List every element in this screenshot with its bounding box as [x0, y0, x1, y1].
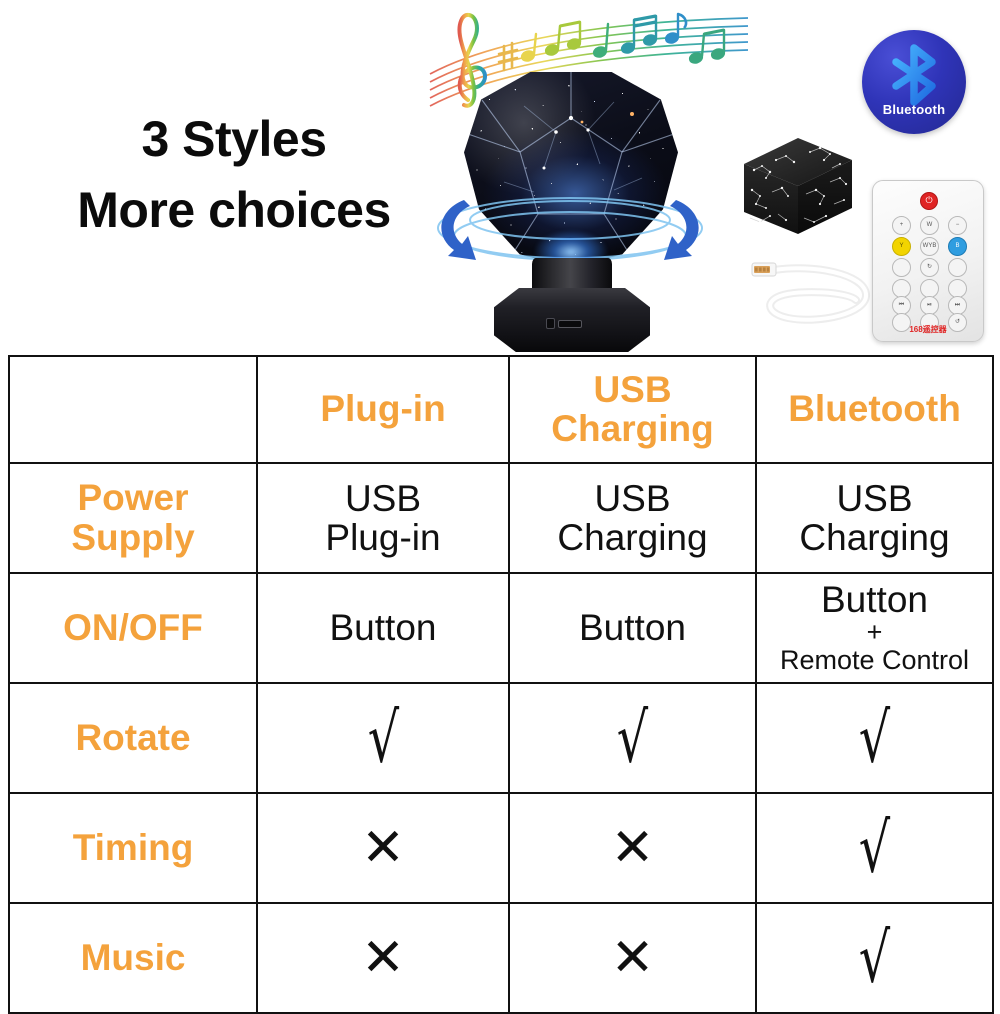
cell-rotate-plug-in: √ — [257, 683, 509, 793]
table-corner-cell — [9, 356, 257, 463]
remote-button-dim[interactable] — [892, 258, 911, 277]
headline-line-1: 3 Styles — [34, 104, 434, 175]
cell-text-line1: USB — [594, 478, 670, 519]
cell-text-plus: + — [761, 619, 988, 646]
column-header-plug-in: Plug-in — [257, 356, 509, 463]
table-row: Music ✕ ✕ √ — [9, 903, 993, 1013]
constellation-gift-box — [736, 130, 858, 242]
power-button-icon — [546, 318, 555, 329]
cell-onoff-usb-charging: Button — [509, 573, 756, 683]
cell-power-bluetooth: USB Charging — [756, 463, 993, 573]
page-title: 3 Styles More choices — [34, 104, 434, 246]
table-row: Timing ✕ ✕ √ — [9, 793, 993, 903]
cell-rotate-usb-charging: √ — [509, 683, 756, 793]
cell-rotate-bluetooth: √ — [756, 683, 993, 793]
cross-icon: ✕ — [611, 932, 655, 984]
cross-icon: ✕ — [361, 822, 405, 874]
ir-remote-control: ⏻ + W − Y WYB B ↻ ⏮ ⏯ ⏭ ↺ 168遥控器 — [872, 180, 984, 342]
remote-button-lamp[interactable] — [948, 258, 967, 277]
table-row: ON/OFF Button Button Button + Remote Con… — [9, 573, 993, 683]
check-icon: √ — [617, 704, 648, 772]
comparison-table: Plug-in USB Charging Bluetooth Power Sup… — [8, 355, 994, 1014]
cell-text-line1: Button — [821, 579, 928, 620]
usb-port-icon — [558, 320, 582, 328]
cross-icon: ✕ — [361, 932, 405, 984]
cross-icon: ✕ — [611, 822, 655, 874]
usb-charging-cable — [744, 248, 884, 332]
remote-button-rotate[interactable]: ↻ — [920, 258, 939, 277]
cell-text-line2: Plug-in — [325, 517, 440, 558]
cell-timing-bluetooth: √ — [756, 793, 993, 903]
remote-model-label: 168遥控器 — [872, 324, 984, 335]
remote-button-plus[interactable]: + — [892, 216, 911, 235]
cell-text-line2: Remote Control — [761, 646, 988, 676]
row-label-power-supply: Power Supply — [9, 463, 257, 573]
check-icon: √ — [859, 814, 890, 882]
table-row: Rotate √ √ √ — [9, 683, 993, 793]
star-projector-lamp — [446, 72, 696, 352]
remote-button-b[interactable]: B — [948, 237, 967, 256]
column-header-usb-charging-line1: USB — [593, 369, 671, 410]
table-header-row: Plug-in USB Charging Bluetooth — [9, 356, 993, 463]
remote-button-minus[interactable]: − — [948, 216, 967, 235]
cell-music-usb-charging: ✕ — [509, 903, 756, 1013]
hero-banner: 3 Styles More choices — [0, 0, 1000, 352]
cell-onoff-bluetooth: Button + Remote Control — [756, 573, 993, 683]
cell-text-line2: Charging — [799, 517, 949, 558]
check-icon: √ — [859, 704, 890, 772]
column-header-usb-charging-line2: Charging — [551, 408, 713, 449]
cell-text-line1: USB — [345, 478, 421, 519]
cell-text-line1: USB — [836, 478, 912, 519]
row-label-timing: Timing — [9, 793, 257, 903]
cell-music-bluetooth: √ — [756, 903, 993, 1013]
cell-timing-usb-charging: ✕ — [509, 793, 756, 903]
remote-power-button[interactable]: ⏻ — [920, 192, 938, 210]
bluetooth-label: Bluetooth — [862, 102, 966, 117]
remote-button-w[interactable]: W — [920, 216, 939, 235]
row-label-rotate: Rotate — [9, 683, 257, 793]
bluetooth-badge: Bluetooth — [862, 30, 966, 134]
cell-music-plug-in: ✕ — [257, 903, 509, 1013]
cell-onoff-plug-in: Button — [257, 573, 509, 683]
remote-button-wyb[interactable]: WYB — [920, 237, 939, 256]
remote-button-y[interactable]: Y — [892, 237, 911, 256]
check-icon: √ — [859, 924, 890, 992]
row-label-power-supply-line1: Power — [77, 477, 188, 518]
row-label-power-supply-line2: Supply — [71, 517, 194, 558]
table-row: Power Supply USB Plug-in USB Charging US… — [9, 463, 993, 573]
row-label-music: Music — [9, 903, 257, 1013]
row-label-on-off: ON/OFF — [9, 573, 257, 683]
column-header-bluetooth: Bluetooth — [756, 356, 993, 463]
cell-text-line2: Charging — [557, 517, 707, 558]
check-icon: √ — [367, 704, 398, 772]
cell-power-usb-charging: USB Charging — [509, 463, 756, 573]
headline-line-2: More choices — [34, 175, 434, 246]
column-header-usb-charging: USB Charging — [509, 356, 756, 463]
cell-power-plug-in: USB Plug-in — [257, 463, 509, 573]
cell-timing-plug-in: ✕ — [257, 793, 509, 903]
